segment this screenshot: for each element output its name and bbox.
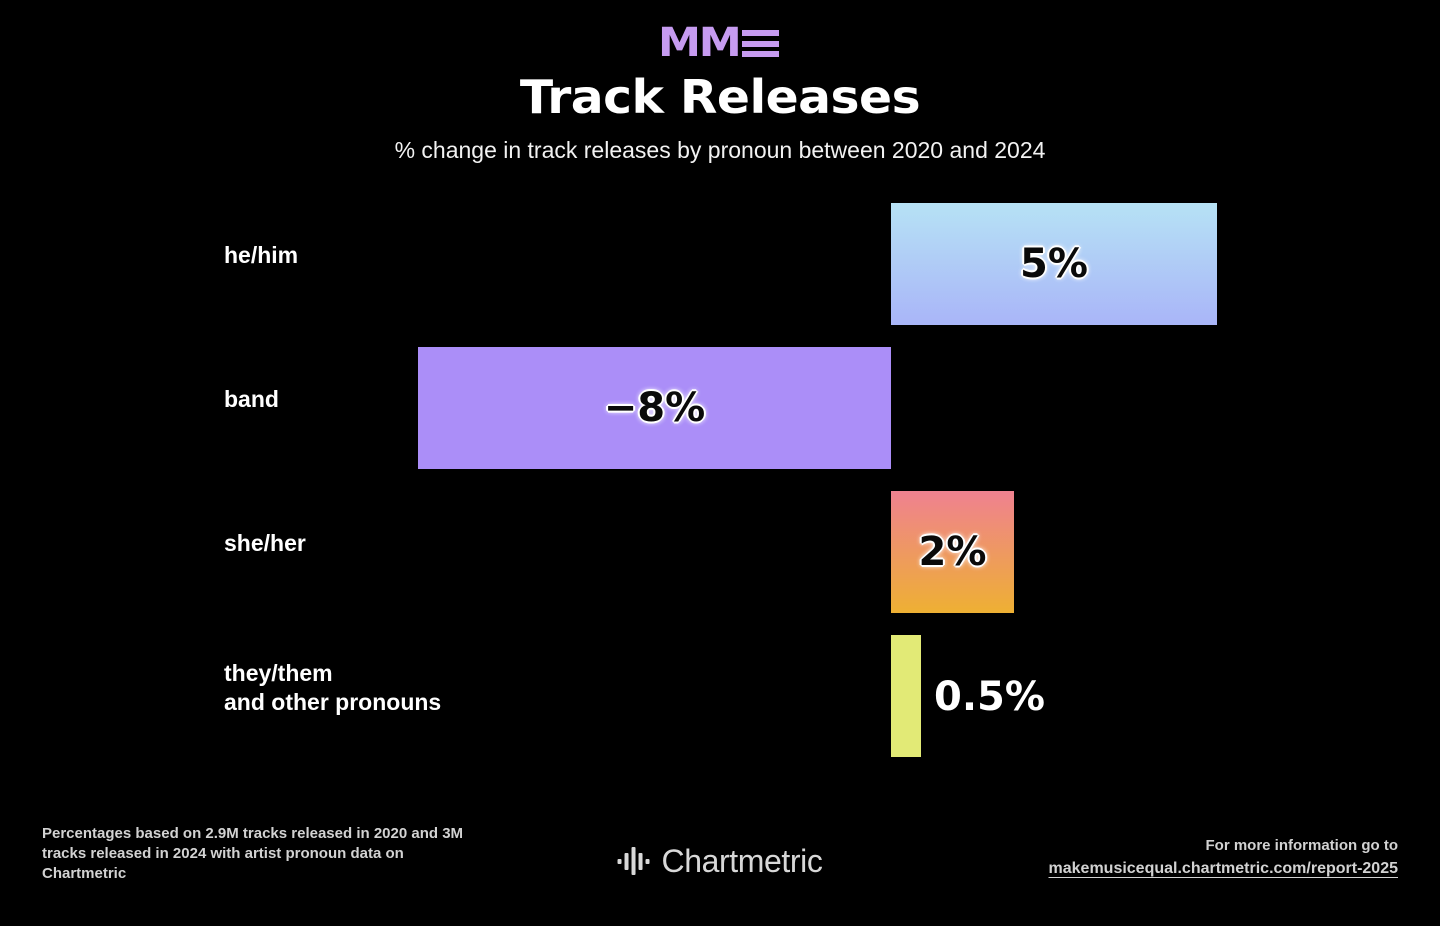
more-info-label: For more information go to [1206, 837, 1399, 854]
page-subtitle: % change in track releases by pronoun be… [0, 135, 1440, 165]
chart-row-he-him: he/him 5% [0, 185, 1440, 335]
bar-label-they-them: they/them and other pronouns [224, 659, 441, 717]
page-header: MM Track Releases % change in track rele… [0, 0, 1440, 165]
chartmetric-logo: Chartmetric [618, 844, 823, 878]
bar-label-he-him: he/him [224, 241, 298, 270]
three-bar-equals-icon [742, 30, 779, 57]
bar-she-her[interactable]: 2% [891, 491, 1014, 613]
page-title: Track Releases [0, 71, 1440, 123]
more-info-block: For more information go to makemusicequa… [1049, 834, 1398, 880]
chartmetric-wordmark: Chartmetric [662, 844, 823, 878]
bar-label-she-her: she/her [224, 529, 306, 558]
logo-mm-text: MM [658, 26, 740, 60]
bar-value-she-her: 2% [919, 532, 987, 572]
report-link[interactable]: makemusicequal.chartmetric.com/report-20… [1049, 857, 1398, 880]
footnote-text: Percentages based on 2.9M tracks release… [42, 824, 472, 884]
make-music-equal-logo: MM [661, 26, 779, 60]
bar-value-band: −8% [604, 388, 705, 428]
bar-band[interactable]: −8% [418, 347, 891, 469]
bar-value-they-them: 0.5% [934, 677, 1045, 717]
bar-label-band: band [224, 385, 279, 414]
bar-they-them[interactable] [891, 635, 921, 757]
bar-he-him[interactable]: 5% [891, 203, 1217, 325]
bar-value-he-him: 5% [1020, 244, 1088, 284]
chart-row-they-them: they/them and other pronouns 0.5% [0, 617, 1440, 767]
waveform-icon [618, 846, 650, 876]
page-footer: Percentages based on 2.9M tracks release… [0, 796, 1440, 926]
chart-row-she-her: she/her 2% [0, 473, 1440, 623]
chart-row-band: band −8% [0, 329, 1440, 479]
bar-chart: he/him 5% band −8% she/her 2% they/them … [0, 185, 1440, 785]
